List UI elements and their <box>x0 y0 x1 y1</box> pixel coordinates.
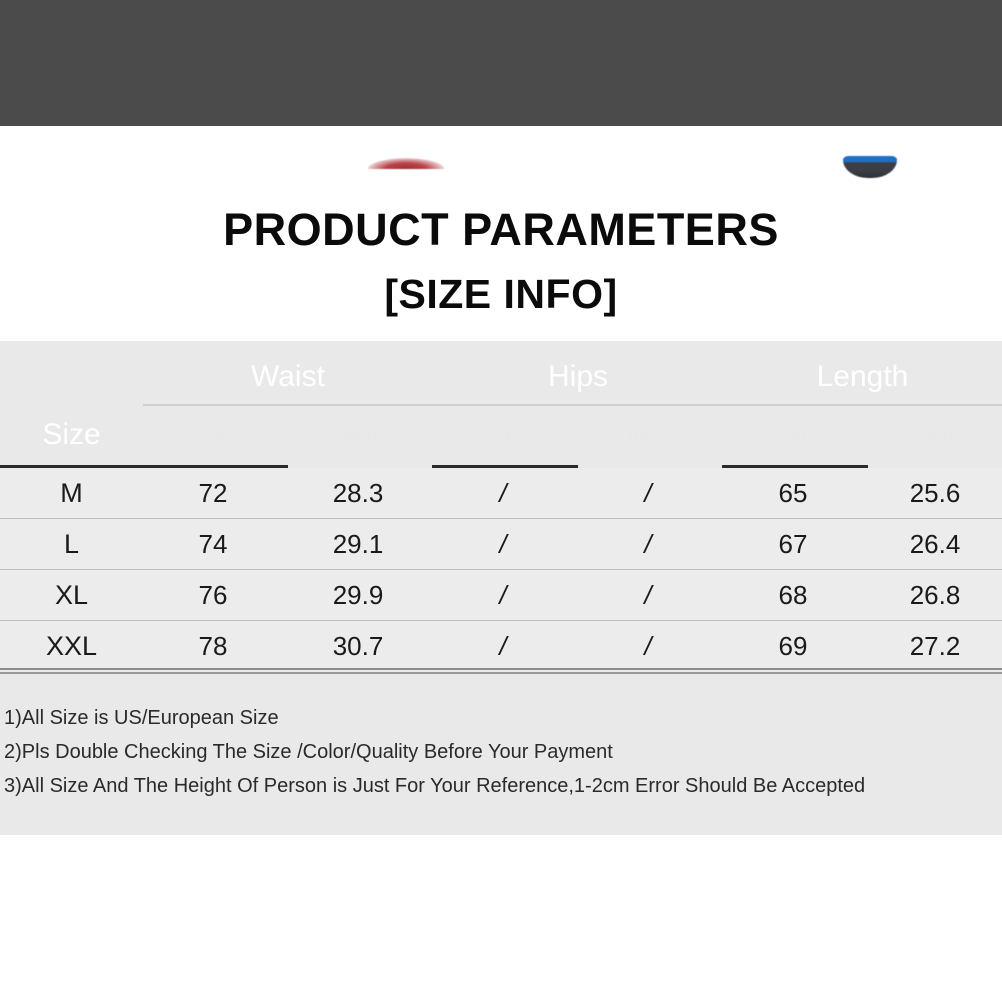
cell-hips-cm: / <box>433 570 573 620</box>
navy-graphic-fragment-icon <box>843 156 897 178</box>
note-line-1: 1)All Size is US/European Size <box>4 703 994 733</box>
column-header-length-cm: cm <box>723 419 863 455</box>
column-header-length-inch: inch <box>868 419 1002 455</box>
cell-hips-cm: / <box>433 468 573 518</box>
table-row: L 74 29.1 / / 67 26.4 <box>0 519 1002 569</box>
cell-length-cm: 69 <box>723 621 863 671</box>
column-header-size: Size <box>0 412 143 458</box>
table-row: M 72 28.3 / / 65 25.6 <box>0 468 1002 518</box>
column-header-waist-inch: inch <box>288 419 428 455</box>
table-bottom-rule <box>0 672 1002 674</box>
cell-size: L <box>0 519 143 569</box>
red-graphic-fragment-icon <box>368 158 444 169</box>
cell-length-inch: 25.6 <box>868 468 1002 518</box>
table-row: XL 76 29.9 / / 68 26.8 <box>0 570 1002 620</box>
table-header <box>0 0 1002 126</box>
column-header-waist-cm: cm <box>143 419 283 455</box>
cell-length-inch: 26.8 <box>868 570 1002 620</box>
cell-length-cm: 65 <box>723 468 863 518</box>
size-chart-page: PRODUCT PARAMETERS [SIZE INFO] Size Wais… <box>0 0 1002 1002</box>
page-subtitle: [SIZE INFO] <box>0 265 1002 323</box>
table-row: XXL 78 30.7 / / 69 27.2 <box>0 621 1002 671</box>
cell-waist-inch: 29.1 <box>288 519 428 569</box>
cell-hips-cm: / <box>433 621 573 671</box>
cell-length-cm: 67 <box>723 519 863 569</box>
column-header-hips-cm: cm <box>433 419 573 455</box>
cell-size: XL <box>0 570 143 620</box>
cell-length-cm: 68 <box>723 570 863 620</box>
note-line-3: 3)All Size And The Height Of Person is J… <box>4 771 994 801</box>
column-group-length: Length <box>723 356 1002 398</box>
column-group-hips: Hips <box>433 356 723 398</box>
cell-waist-inch: 28.3 <box>288 468 428 518</box>
column-header-hips-inch: inch <box>578 419 718 455</box>
header-group-rule <box>143 404 1002 406</box>
cell-length-inch: 26.4 <box>868 519 1002 569</box>
table-bottom-rule <box>0 668 1002 670</box>
cell-length-inch: 27.2 <box>868 621 1002 671</box>
cell-waist-inch: 30.7 <box>288 621 428 671</box>
cell-size: M <box>0 468 143 518</box>
cell-waist-inch: 29.9 <box>288 570 428 620</box>
note-line-2: 2)Pls Double Checking The Size /Color/Qu… <box>4 737 994 767</box>
page-title: PRODUCT PARAMETERS <box>0 199 1002 261</box>
cell-waist-cm: 72 <box>143 468 283 518</box>
cell-hips-cm: / <box>433 519 573 569</box>
cell-hips-inch: / <box>578 468 718 518</box>
cell-hips-inch: / <box>578 570 718 620</box>
cell-hips-inch: / <box>578 519 718 569</box>
column-group-waist: Waist <box>143 356 433 398</box>
cell-hips-inch: / <box>578 621 718 671</box>
cell-waist-cm: 78 <box>143 621 283 671</box>
cell-waist-cm: 76 <box>143 570 283 620</box>
cell-size: XXL <box>0 621 143 671</box>
cell-waist-cm: 74 <box>143 519 283 569</box>
